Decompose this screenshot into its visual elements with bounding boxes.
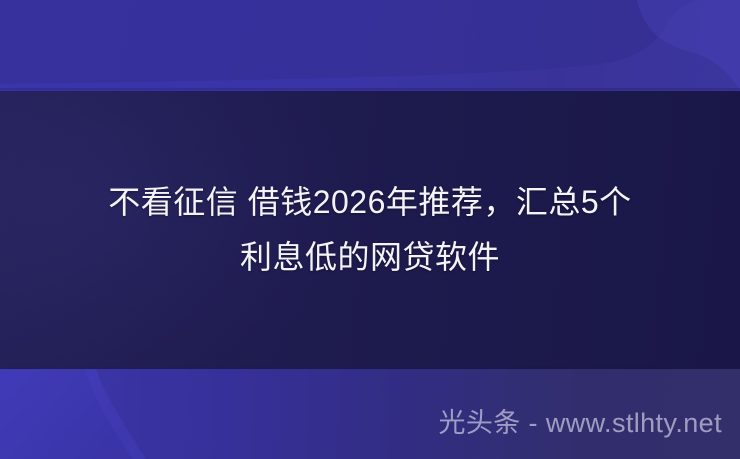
title-container: 不看征信 借钱2026年推荐，汇总5个 利息低的网贷软件 (0, 91, 740, 369)
cover-title-line-2: 利息低的网贷软件 (40, 230, 700, 285)
top-decorative-band (0, 0, 740, 91)
cover-title-line-1: 不看征信 借钱2026年推荐，汇总5个 (40, 175, 700, 230)
site-watermark: 光头条 - www.stlhty.net (438, 406, 722, 440)
cover-title: 不看征信 借钱2026年推荐，汇总5个 利息低的网贷软件 (40, 175, 700, 285)
top-right-swoosh-shape (0, 0, 740, 91)
article-cover-banner: 不看征信 借钱2026年推荐，汇总5个 利息低的网贷软件 光头条 - www.s… (0, 0, 740, 459)
